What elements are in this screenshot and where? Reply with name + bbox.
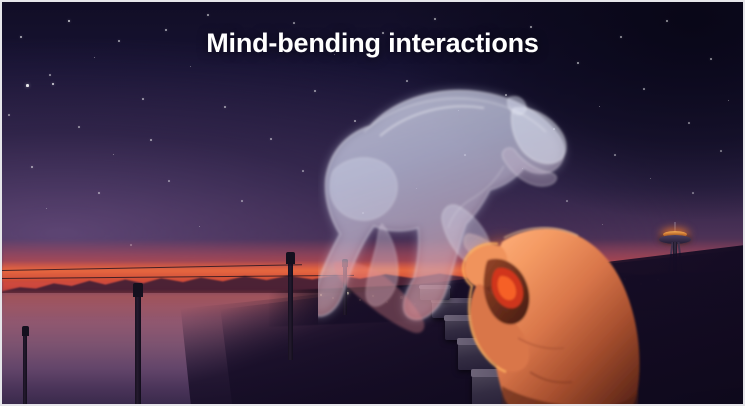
piling (23, 336, 27, 404)
piling-cap (342, 259, 348, 267)
piling (288, 264, 293, 360)
piling-cap (22, 326, 29, 336)
piling-cap (286, 252, 295, 264)
ar-scene: Mind-bending interactions (2, 2, 743, 404)
pilings (2, 2, 743, 404)
screenshot-frame: Mind-bending interactions (0, 0, 745, 406)
piling (135, 297, 141, 404)
piling-cap (133, 283, 143, 297)
page-title: Mind-bending interactions (2, 28, 743, 59)
